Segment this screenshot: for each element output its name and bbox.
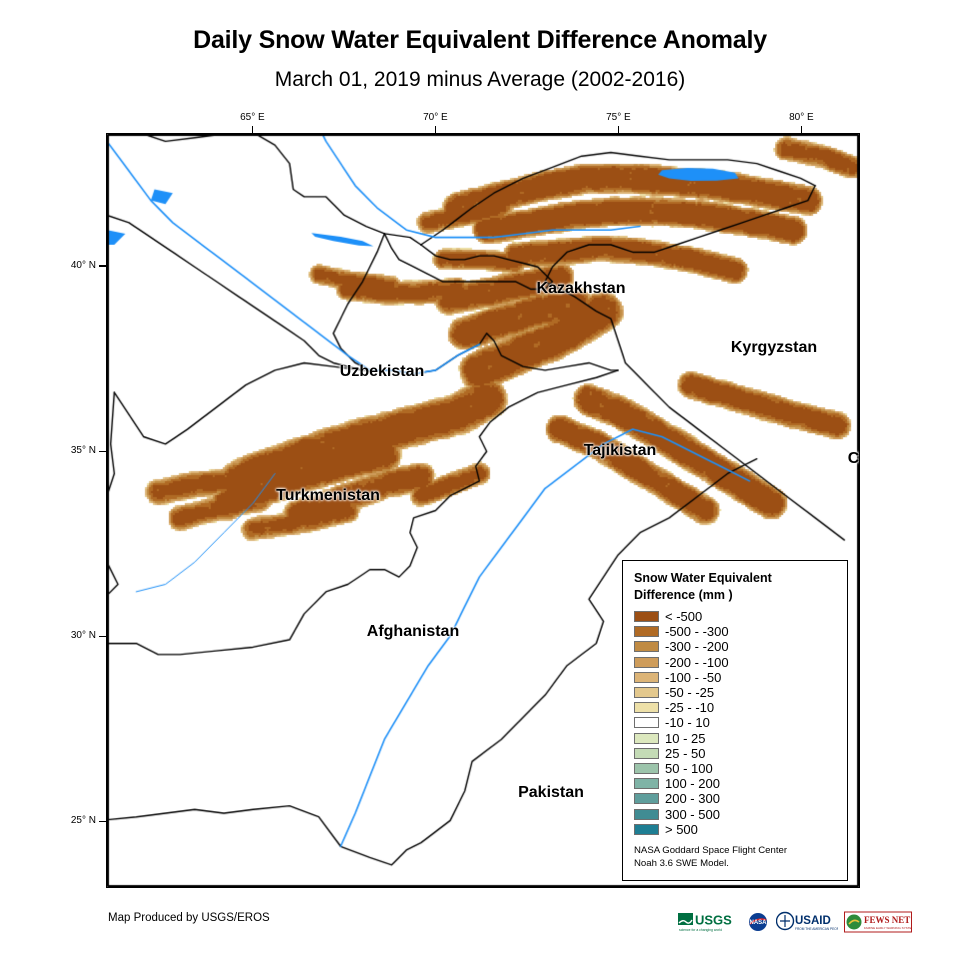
legend-swatch-3 xyxy=(634,657,659,668)
legend-class-list: < -500-500 - -300-300 - -200-200 - -100-… xyxy=(634,609,837,837)
svg-text:FROM THE AMERICAN PEOPLE: FROM THE AMERICAN PEOPLE xyxy=(795,927,838,931)
legend-credit-line2: Noah 3.6 SWE Model. xyxy=(634,857,837,871)
legend-title-line1: Snow Water Equivalent xyxy=(634,570,837,587)
legend-row: 200 - 300 xyxy=(634,791,837,806)
lat-tick-label-2: 30° N xyxy=(36,630,96,641)
lon-tick-label-2: 75° E xyxy=(588,112,648,123)
legend-row: -50 - -25 xyxy=(634,685,837,700)
usaid-logo: USAID FROM THE AMERICAN PEOPLE xyxy=(776,911,838,933)
lat-tick-label-1: 35° N xyxy=(36,445,96,456)
legend-label-5: -50 - -25 xyxy=(665,686,714,699)
legend-row: -25 - -10 xyxy=(634,700,837,715)
legend-label-12: 200 - 300 xyxy=(665,792,720,805)
legend-label-7: -10 - 10 xyxy=(665,716,710,729)
page-subtitle: March 01, 2019 minus Average (2002-2016) xyxy=(0,68,960,92)
legend-label-2: -300 - -200 xyxy=(665,640,729,653)
legend-swatch-6 xyxy=(634,702,659,713)
legend-row: -500 - -300 xyxy=(634,624,837,639)
legend-row: -10 - 10 xyxy=(634,715,837,730)
lat-tick-label-3: 25° N xyxy=(36,815,96,826)
legend-title-line2: Difference (mm ) xyxy=(634,587,837,604)
legend-row: 10 - 25 xyxy=(634,731,837,746)
svg-text:FAMINE EARLY WARNING SYSTEMS N: FAMINE EARLY WARNING SYSTEMS NETWORK xyxy=(864,926,912,930)
legend-swatch-5 xyxy=(634,687,659,698)
legend-swatch-2 xyxy=(634,641,659,652)
legend-row: > 500 xyxy=(634,822,837,837)
page-title: Daily Snow Water Equivalent Difference A… xyxy=(0,26,960,55)
lon-tick-label-1: 70° E xyxy=(405,112,465,123)
legend-swatch-13 xyxy=(634,809,659,820)
legend-swatch-0 xyxy=(634,611,659,622)
nasa-logo: NASA xyxy=(746,911,770,933)
agency-logo-row: USGS science for a changing world NASA U… xyxy=(678,909,912,935)
legend-label-1: -500 - -300 xyxy=(665,625,729,638)
lat-tick-label-0: 40° N xyxy=(36,260,96,271)
legend-label-8: 10 - 25 xyxy=(665,732,705,745)
legend-swatch-7 xyxy=(634,717,659,728)
legend-swatch-4 xyxy=(634,672,659,683)
legend-swatch-14 xyxy=(634,824,659,835)
legend-title: Snow Water Equivalent Difference (mm ) xyxy=(634,570,837,603)
legend-label-0: < -500 xyxy=(665,610,702,623)
legend-label-6: -25 - -10 xyxy=(665,701,714,714)
svg-text:USAID: USAID xyxy=(795,915,831,927)
lon-tick-label-3: 80° E xyxy=(771,112,831,123)
legend-row: 300 - 500 xyxy=(634,806,837,821)
legend-swatch-1 xyxy=(634,626,659,637)
legend-label-4: -100 - -50 xyxy=(665,671,721,684)
svg-text:USGS: USGS xyxy=(695,913,732,928)
usgs-logo: USGS science for a changing world xyxy=(678,911,740,933)
legend-label-3: -200 - -100 xyxy=(665,656,729,669)
legend-swatch-11 xyxy=(634,778,659,789)
legend-row: -100 - -50 xyxy=(634,670,837,685)
svg-text:FEWS NET: FEWS NET xyxy=(864,915,910,925)
legend-row: 50 - 100 xyxy=(634,761,837,776)
lon-tick-label-0: 65° E xyxy=(222,112,282,123)
legend-label-14: > 500 xyxy=(665,823,698,836)
legend-row: 25 - 50 xyxy=(634,746,837,761)
legend-swatch-9 xyxy=(634,748,659,759)
footer-credit: Map Produced by USGS/EROS xyxy=(108,912,270,924)
legend-label-11: 100 - 200 xyxy=(665,777,720,790)
legend-label-9: 25 - 50 xyxy=(665,747,705,760)
legend-label-13: 300 - 500 xyxy=(665,808,720,821)
legend-label-10: 50 - 100 xyxy=(665,762,713,775)
legend-credit-line1: NASA Goddard Space Flight Center xyxy=(634,844,837,858)
legend-row: -200 - -100 xyxy=(634,655,837,670)
legend-row: -300 - -200 xyxy=(634,639,837,654)
svg-text:science for a changing world: science for a changing world xyxy=(679,928,722,932)
legend-panel: Snow Water Equivalent Difference (mm ) <… xyxy=(622,560,848,881)
legend-row: 100 - 200 xyxy=(634,776,837,791)
fewsnet-logo: FEWS NET FAMINE EARLY WARNING SYSTEMS NE… xyxy=(844,911,912,933)
legend-swatch-12 xyxy=(634,793,659,804)
svg-text:NASA: NASA xyxy=(749,920,767,926)
legend-row: < -500 xyxy=(634,609,837,624)
legend-credit: NASA Goddard Space Flight Center Noah 3.… xyxy=(634,844,837,871)
legend-swatch-10 xyxy=(634,763,659,774)
legend-swatch-8 xyxy=(634,733,659,744)
